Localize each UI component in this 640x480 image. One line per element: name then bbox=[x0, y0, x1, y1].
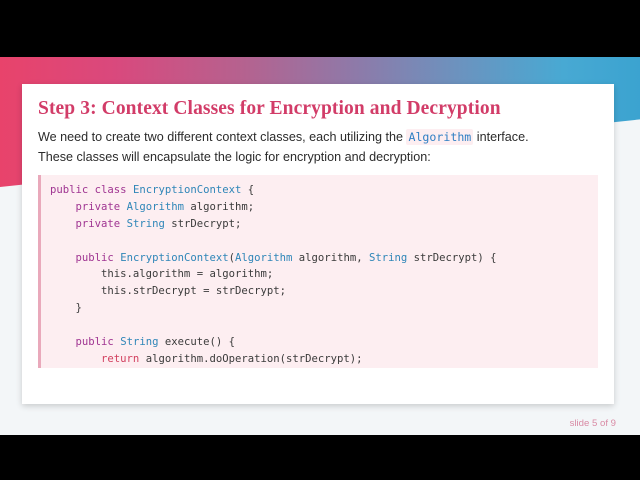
code-token: algorithm; bbox=[184, 201, 254, 213]
code-line: } bbox=[50, 300, 588, 317]
page-title: Step 3: Context Classes for Encryption a… bbox=[38, 98, 598, 120]
code-line: this.algorithm = algorithm; bbox=[50, 266, 588, 283]
code-token bbox=[50, 336, 76, 348]
code-token: String bbox=[120, 336, 158, 348]
code-line: this.strDecrypt = strDecrypt; bbox=[50, 283, 588, 300]
code-line: public class EncryptionContext { bbox=[50, 182, 588, 199]
code-token: } bbox=[50, 302, 82, 314]
code-token: public bbox=[50, 184, 88, 196]
code-token: private bbox=[76, 218, 121, 230]
code-line: public EncryptionContext(Algorithm algor… bbox=[50, 250, 588, 267]
code-line: public String execute() { bbox=[50, 334, 588, 351]
code-token: strDecrypt) { bbox=[407, 252, 496, 264]
code-token: String bbox=[369, 252, 407, 264]
body-line-2: These classes will encapsulate the logic… bbox=[38, 147, 598, 167]
code-line: private String strDecrypt; bbox=[50, 216, 588, 233]
body-line-1-suffix: interface. bbox=[473, 130, 528, 144]
code-token: String bbox=[127, 218, 165, 230]
code-line bbox=[50, 233, 588, 250]
code-token: this.strDecrypt = strDecrypt; bbox=[50, 285, 286, 297]
slide-canvas: Step 3: Context Classes for Encryption a… bbox=[0, 57, 640, 435]
body-line-1: We need to create two different context … bbox=[38, 127, 598, 147]
code-token: { bbox=[241, 184, 254, 196]
code-line: return algorithm.doOperation(strDecrypt)… bbox=[50, 351, 588, 368]
code-token: private bbox=[76, 201, 121, 213]
code-line bbox=[50, 317, 588, 334]
code-token bbox=[50, 218, 76, 230]
code-token bbox=[50, 353, 101, 365]
code-token bbox=[50, 252, 76, 264]
code-token: algorithm, bbox=[292, 252, 369, 264]
code-token: this.algorithm = algorithm; bbox=[50, 268, 273, 280]
code-token: public bbox=[76, 336, 114, 348]
code-lines: public class EncryptionContext { private… bbox=[50, 182, 588, 368]
code-token: strDecrypt; bbox=[165, 218, 242, 230]
code-token: EncryptionContext bbox=[133, 184, 241, 196]
inline-code-algorithm: Algorithm bbox=[406, 129, 473, 145]
code-token: execute() { bbox=[158, 336, 235, 348]
code-token: public bbox=[76, 252, 114, 264]
slide-body-text: We need to create two different context … bbox=[38, 127, 598, 168]
code-line: private Algorithm algorithm; bbox=[50, 199, 588, 216]
code-token: return bbox=[101, 353, 139, 365]
code-token: Algorithm bbox=[127, 201, 184, 213]
letterbox-bar-bottom bbox=[0, 435, 640, 480]
body-line-1-prefix: We need to create two different context … bbox=[38, 130, 406, 144]
code-token: class bbox=[95, 184, 127, 196]
slide-number-footer: slide 5 of 9 bbox=[570, 418, 616, 429]
code-token: Algorithm bbox=[235, 252, 292, 264]
code-token: algorithm.doOperation(strDecrypt); bbox=[139, 353, 362, 365]
letterbox-bar-top bbox=[0, 0, 640, 57]
slide-viewer: Step 3: Context Classes for Encryption a… bbox=[0, 0, 640, 480]
code-token bbox=[50, 201, 76, 213]
code-block: public class EncryptionContext { private… bbox=[38, 175, 598, 368]
code-token: EncryptionContext bbox=[120, 252, 228, 264]
slide-content-card: Step 3: Context Classes for Encryption a… bbox=[22, 84, 614, 404]
